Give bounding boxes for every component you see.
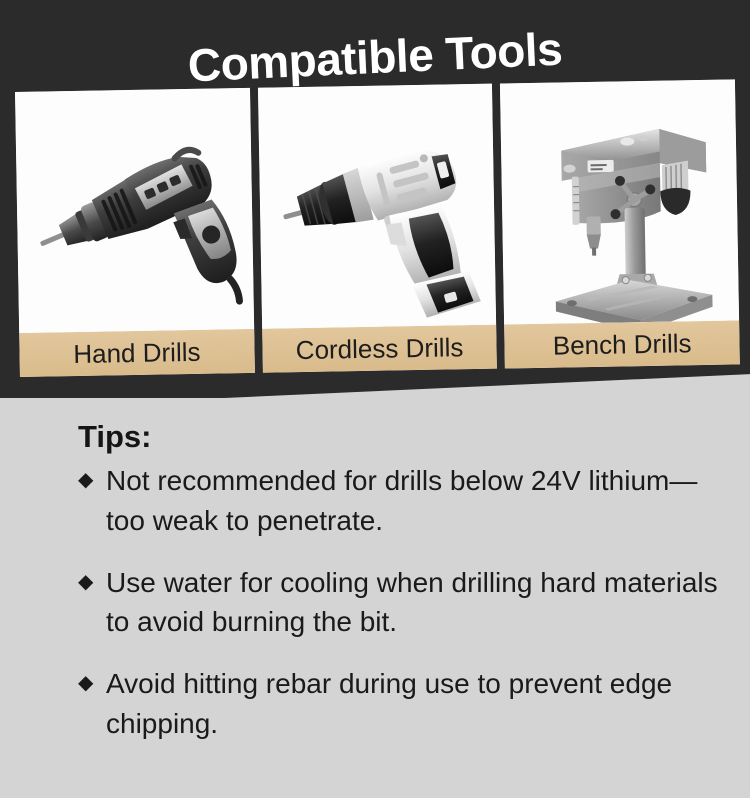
- tip-item: ◆ Use water for cooling when drilling ha…: [78, 563, 732, 643]
- bench-drill-press-icon: [500, 79, 739, 324]
- tool-photo-hand-drills: [15, 88, 254, 333]
- tip-item: ◆ Avoid hitting rebar during use to prev…: [78, 664, 732, 744]
- tool-photo-bench-drills: [500, 79, 739, 324]
- tips-heading: Tips:: [78, 418, 732, 455]
- tool-card-hand-drills[interactable]: Hand Drills: [15, 88, 255, 377]
- tip-text: Use water for cooling when drilling hard…: [106, 567, 718, 638]
- diamond-bullet-icon: ◆: [78, 563, 93, 602]
- tips-section: Tips: ◆ Not recommended for drills below…: [0, 404, 750, 798]
- tips-list: ◆ Not recommended for drills below 24V l…: [78, 461, 732, 744]
- corded-hand-drill-icon: [15, 88, 254, 333]
- diamond-bullet-icon: ◆: [78, 461, 93, 500]
- tool-card-caption-cordless-drills: Cordless Drills: [262, 325, 497, 373]
- tip-text: Not recommended for drills below 24V lit…: [106, 465, 697, 536]
- tool-card-bench-drills[interactable]: Bench Drills: [500, 79, 740, 368]
- tool-card-row: Hand Drills: [15, 79, 740, 377]
- tip-item: ◆ Not recommended for drills below 24V l…: [78, 461, 732, 541]
- diamond-bullet-icon: ◆: [78, 664, 93, 703]
- tool-photo-cordless-drills: [258, 84, 497, 329]
- cordless-drill-icon: [258, 84, 497, 329]
- tool-card-caption-hand-drills: Hand Drills: [19, 329, 254, 377]
- compatible-tools-infographic: Compatible Tools: [0, 0, 750, 798]
- tip-text: Avoid hitting rebar during use to preven…: [106, 668, 672, 739]
- tool-card-caption-bench-drills: Bench Drills: [504, 320, 739, 368]
- tool-card-cordless-drills[interactable]: Cordless Drills: [258, 84, 498, 373]
